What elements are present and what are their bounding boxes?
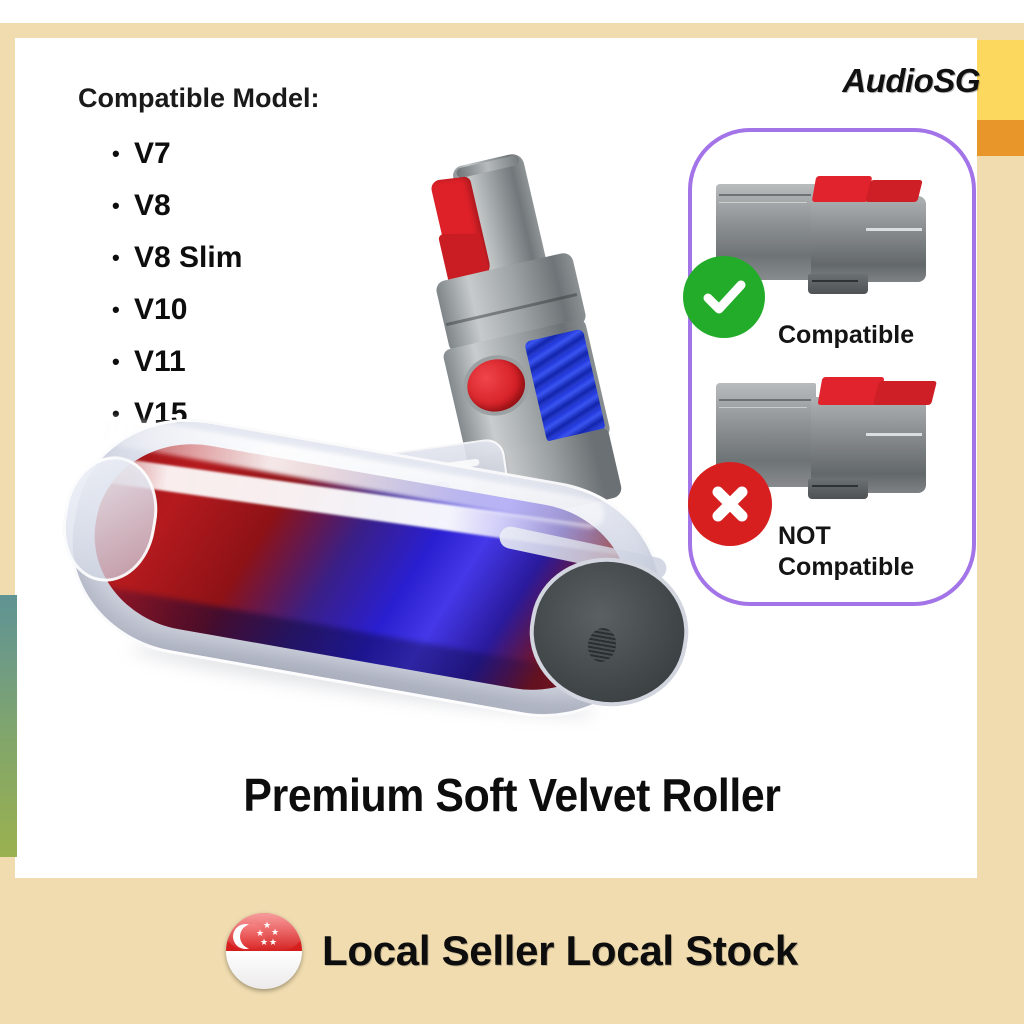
- banner-text: Local Seller Local Stock: [322, 927, 798, 975]
- accent-strip-right-yellow: [977, 40, 1024, 120]
- connector-neck-slot: [866, 228, 922, 231]
- connector-neck-slot: [866, 433, 922, 436]
- singapore-flag-icon: ★ ★ ★ ★ ★: [226, 913, 302, 989]
- brand-logo: AudioSG: [842, 62, 980, 100]
- connector-foot-slot: [812, 280, 858, 282]
- connector-seam: [719, 194, 811, 196]
- product-photo-velvet-roller: [60, 150, 710, 750]
- cross-icon: [688, 462, 772, 546]
- connector-foot-slot: [812, 485, 858, 487]
- flag-white-band: [226, 951, 302, 989]
- connector-neck: [811, 196, 926, 282]
- frame-top-margin: [0, 0, 1024, 23]
- not-compatible-label: NOT Compatible: [778, 521, 914, 583]
- page-title: Premium Soft Velvet Roller: [36, 768, 988, 822]
- red-clip-right: [865, 180, 922, 202]
- flag-gloss: [226, 913, 302, 953]
- connector-foot: [808, 274, 868, 294]
- red-clip-right: [873, 381, 937, 405]
- connector-seam: [719, 399, 811, 401]
- connector-highlight: [719, 407, 807, 408]
- compatible-models-heading: Compatible Model:: [78, 83, 320, 114]
- not-compatible-label-line1: NOT: [778, 521, 914, 552]
- product-listing-image: AudioSG Compatible Model: •V7 •V8 •V8 Sl…: [0, 0, 1024, 1024]
- roller-head-body: [68, 450, 678, 710]
- local-seller-banner: ★ ★ ★ ★ ★ Local Seller Local Stock: [0, 878, 1024, 1024]
- connector-foot: [808, 479, 868, 499]
- connector-highlight: [719, 202, 807, 203]
- accent-strip-left: [0, 595, 17, 857]
- red-clip-left: [812, 176, 873, 202]
- accent-strip-right-orange: [977, 120, 1024, 156]
- not-compatible-label-line2: Compatible: [778, 552, 914, 583]
- check-icon: [683, 256, 765, 338]
- compatible-label: Compatible: [778, 320, 914, 351]
